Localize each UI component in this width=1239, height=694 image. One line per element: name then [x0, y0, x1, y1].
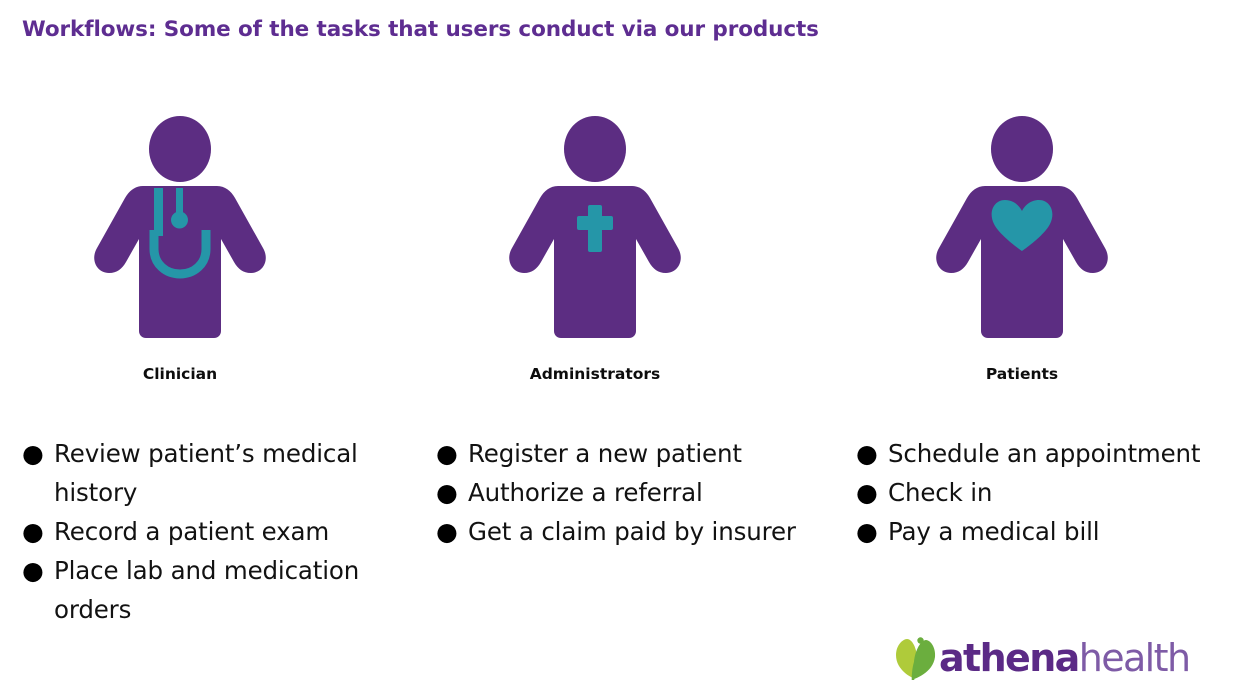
logo-wordmark: athenahealth — [939, 639, 1189, 677]
role-label-patients: Patients — [872, 365, 1172, 383]
bullet-dot-icon: ● — [8, 512, 54, 551]
role-label-administrators: Administrators — [445, 365, 745, 383]
task-list-clinician: ● Review patient’s medical history ● Rec… — [8, 434, 408, 629]
logo-word-health: health — [1079, 636, 1190, 680]
list-item-label: Register a new patient — [468, 434, 822, 473]
figure-head — [564, 116, 626, 182]
person-figure-administrators — [490, 112, 700, 342]
bullet-dot-icon: ● — [422, 512, 468, 551]
list-item-label: Authorize a referral — [468, 473, 822, 512]
list-item: ● Schedule an appointment — [842, 434, 1237, 473]
person-figure-clinician — [75, 112, 285, 342]
list-item-label: Check in — [888, 473, 1237, 512]
person-figure-patients — [917, 112, 1127, 342]
list-item: ● Register a new patient — [422, 434, 822, 473]
bullet-dot-icon: ● — [8, 551, 54, 590]
logo-word-athena: athena — [939, 636, 1079, 680]
list-item: ● Record a patient exam — [8, 512, 408, 551]
list-item: ● Pay a medical bill — [842, 512, 1237, 551]
list-item: ● Get a claim paid by insurer — [422, 512, 822, 551]
bullet-dot-icon: ● — [842, 473, 888, 512]
list-item: ● Review patient’s medical history — [8, 434, 408, 512]
figure-head — [991, 116, 1053, 182]
figure-clinician — [30, 112, 330, 402]
list-item-label: Record a patient exam — [54, 512, 408, 551]
page-title: Workflows: Some of the tasks that users … — [22, 17, 819, 42]
list-item: ● Check in — [842, 473, 1237, 512]
list-item-label: Pay a medical bill — [888, 512, 1237, 551]
bullet-dot-icon: ● — [842, 512, 888, 551]
list-item: ● Authorize a referral — [422, 473, 822, 512]
role-label-clinician: Clinician — [30, 365, 330, 383]
list-item-label: Schedule an appointment — [888, 434, 1237, 473]
athenahealth-leaf-icon — [893, 633, 941, 683]
figure-head — [149, 116, 211, 182]
bullet-dot-icon: ● — [422, 473, 468, 512]
task-list-administrators: ● Register a new patient ● Authorize a r… — [422, 434, 822, 551]
list-item-label: Place lab and medication orders — [54, 551, 408, 629]
list-item-label: Review patient’s medical history — [54, 434, 408, 512]
figure-patients — [872, 112, 1172, 402]
bullet-dot-icon: ● — [422, 434, 468, 473]
list-item-label: Get a claim paid by insurer — [468, 512, 822, 551]
list-item: ● Place lab and medication orders — [8, 551, 408, 629]
figure-administrators — [445, 112, 745, 402]
bullet-dot-icon: ● — [8, 434, 54, 473]
bullet-dot-icon: ● — [842, 434, 888, 473]
slide-canvas: Workflows: Some of the tasks that users … — [0, 0, 1239, 694]
figure-body — [936, 186, 1108, 338]
task-list-patients: ● Schedule an appointment ● Check in ● P… — [842, 434, 1237, 551]
athenahealth-logo: athenahealth — [893, 630, 1189, 686]
